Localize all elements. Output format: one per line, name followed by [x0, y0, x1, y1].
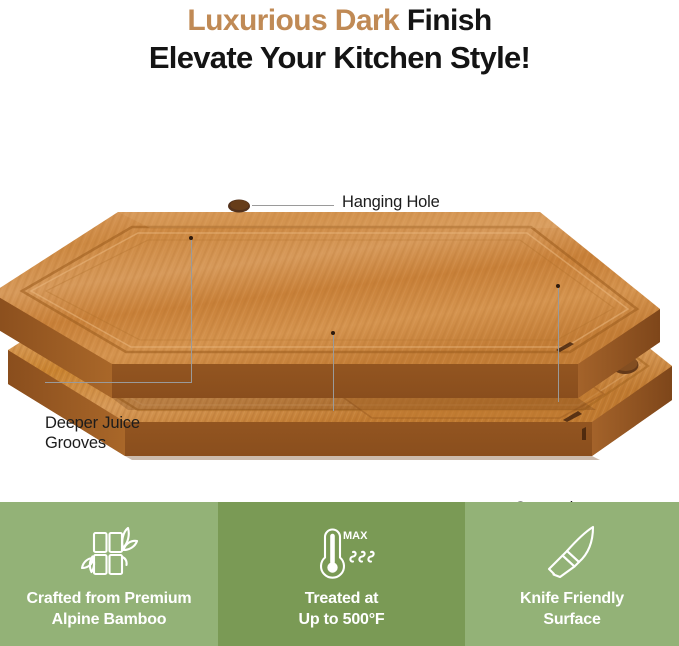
- leader-handles-vertical: [558, 288, 559, 402]
- feature-2-line-2: Up to 500°F: [299, 609, 385, 630]
- headline-block: Luxurious Dark Finish Elevate Your Kitch…: [0, 0, 679, 88]
- upper-cutting-board: [0, 200, 660, 411]
- leader-wide-slot-vertical: [333, 335, 334, 411]
- feature-3-line-2: Surface: [520, 609, 624, 630]
- feature-panel-premium-alpine-bamboo: Crafted from Premium Alpine Bamboo: [0, 502, 218, 646]
- feature-label-heat-treated: Treated at Up to 500°F: [299, 588, 385, 630]
- thermometer-max-icon: MAX: [303, 520, 381, 584]
- feature-3-line-1: Knife Friendly: [520, 588, 624, 609]
- leader-hanging-hole: [252, 205, 334, 206]
- feature-panel-heat-treated: MAX Treated at Up to 500°F: [218, 502, 465, 646]
- headline-accent-text: Luxurious Dark: [187, 4, 399, 37]
- leader-juice-grooves-vertical: [191, 240, 192, 383]
- callout-deeper-juice-grooves: Deeper Juice Grooves: [45, 413, 140, 453]
- headline-line-2: Elevate Your Kitchen Style!: [149, 39, 530, 77]
- chef-knife-icon: [541, 520, 603, 584]
- feature-label-knife-friendly: Knife Friendly Surface: [520, 588, 624, 630]
- feature-label-premium-alpine-bamboo: Crafted from Premium Alpine Bamboo: [27, 588, 192, 630]
- headline-line-1: Luxurious Dark Finish: [187, 3, 491, 39]
- headline-line-1-rest: Finish: [407, 4, 492, 37]
- leader-juice-grooves-horizontal: [45, 382, 192, 383]
- callout-hanging-hole: Hanging Hole: [342, 192, 440, 212]
- callout-juice-grooves-line-2: Grooves: [45, 433, 140, 453]
- feature-panel-knife-friendly: Knife Friendly Surface: [465, 502, 679, 646]
- feature-1-line-1: Crafted from Premium: [27, 588, 192, 609]
- product-image-stage: Hanging Hole Deeper Juice Grooves Multif…: [0, 88, 679, 488]
- callout-juice-grooves-line-1: Deeper Juice: [45, 413, 140, 433]
- callout-hanging-hole-label: Hanging Hole: [342, 192, 440, 212]
- thermometer-max-badge: MAX: [343, 530, 368, 542]
- feature-bar: Crafted from Premium Alpine Bamboo MAX T…: [0, 502, 679, 646]
- feature-1-line-2: Alpine Bamboo: [27, 609, 192, 630]
- bamboo-icon: [78, 520, 140, 584]
- feature-2-line-1: Treated at: [299, 588, 385, 609]
